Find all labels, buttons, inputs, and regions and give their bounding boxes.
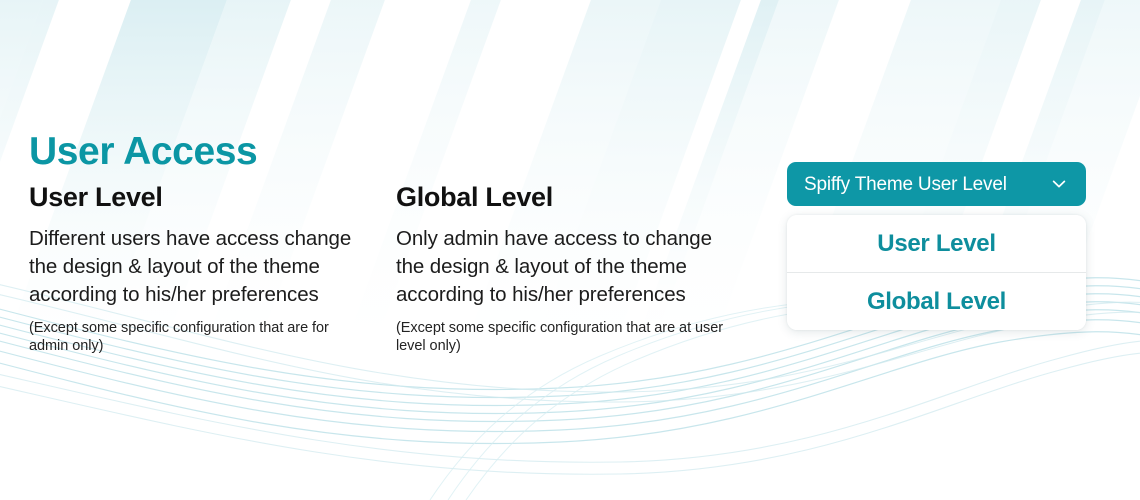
user-level-dropdown: Spiffy Theme User Level User Level Globa… xyxy=(787,162,1086,330)
column-note-user-level: (Except some specific configuration that… xyxy=(29,319,369,355)
column-body-user-level: Different users have access change the d… xyxy=(29,225,369,309)
column-user-level: User Level Different users have access c… xyxy=(29,184,369,355)
dropdown-toggle-button[interactable]: Spiffy Theme User Level xyxy=(787,162,1086,206)
column-global-level: Global Level Only admin have access to c… xyxy=(396,184,736,355)
column-heading-global-level: Global Level xyxy=(396,184,736,211)
page-title: User Access xyxy=(29,132,257,171)
dropdown-selected-label: Spiffy Theme User Level xyxy=(804,175,1007,194)
column-body-global-level: Only admin have access to change the des… xyxy=(396,225,736,309)
chevron-down-icon[interactable] xyxy=(1050,175,1068,193)
slide-content: User Access User Level Different users h… xyxy=(0,0,1140,500)
column-heading-user-level: User Level xyxy=(29,184,369,211)
dropdown-option-global-level[interactable]: Global Level xyxy=(787,272,1086,330)
dropdown-option-user-level[interactable]: User Level xyxy=(787,215,1086,272)
column-note-global-level: (Except some specific configuration that… xyxy=(396,319,736,355)
dropdown-menu: User Level Global Level xyxy=(787,215,1086,330)
